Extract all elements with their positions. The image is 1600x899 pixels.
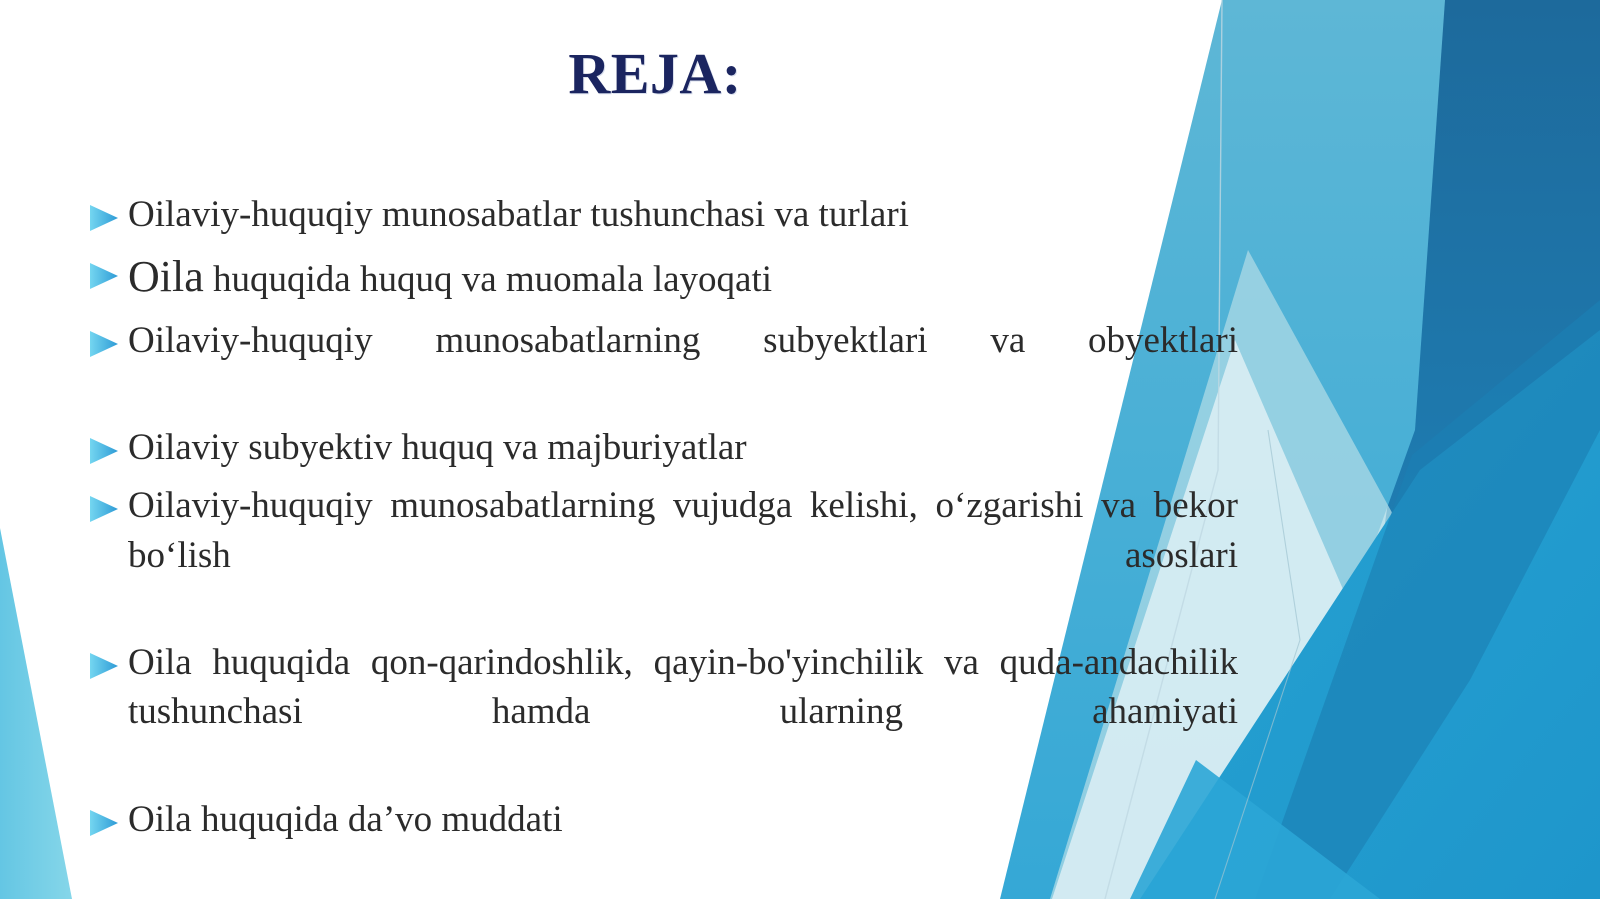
title-container: REJA:: [0, 44, 1310, 105]
deco-accent-band: [1255, 300, 1600, 899]
triangle-right-icon: [88, 248, 128, 291]
triangle-right-icon: [88, 190, 128, 233]
list-item-label: Oilaviy-huquqiy munosabatlarning vujudga…: [128, 481, 1238, 629]
deco-right-deep: [1330, 0, 1600, 899]
triangle-right-icon: [88, 481, 128, 524]
list-item: Oilaviy subyektiv huquq va majburiyatlar: [88, 423, 1238, 472]
list-item-rest: huquqida huquq va muomala layoqati: [213, 259, 772, 300]
triangle-right-icon: [88, 423, 128, 466]
list-item-lead: Oila: [128, 252, 204, 301]
list-item: Oilaviy-huquqiy munosabatlarning subyekt…: [88, 316, 1238, 414]
triangle-right-icon: [88, 795, 128, 838]
list-item-label: Oila huquqida qon-qarindoshlik, qayin-bo…: [128, 638, 1238, 786]
list-item-label: Oilaviy-huquqiy munosabatlarning subyekt…: [128, 316, 1238, 414]
triangle-right-icon: [88, 638, 128, 681]
list-item: Oilaviy-huquqiy munosabatlar tushunchasi…: [88, 190, 1238, 239]
triangle-right-icon: [88, 316, 128, 359]
list-item-label: Oila huquqida huquq va muomala layoqati: [128, 248, 1238, 307]
presentation-slide: REJA: Oilaviy-huquqiy munosabatlar tushu…: [0, 0, 1600, 899]
list-item-label: Oilaviy subyektiv huquq va majburiyatlar: [128, 423, 1238, 472]
list-item: Oila huquqida qon-qarindoshlik, qayin-bo…: [88, 638, 1238, 786]
page-title: REJA:: [568, 44, 741, 105]
list-item-label: Oilaviy-huquqiy munosabatlar tushunchasi…: [128, 190, 1238, 239]
list-item: Oila huquqida huquq va muomala layoqati: [88, 248, 1238, 307]
deco-left-wedge: [0, 528, 72, 899]
agenda-list: Oilaviy-huquqiy munosabatlar tushunchasi…: [88, 190, 1238, 853]
list-item: Oilaviy-huquqiy munosabatlarning vujudga…: [88, 481, 1238, 629]
list-item: Oila huquqida da’vo muddati: [88, 795, 1238, 844]
list-item-label: Oila huquqida da’vo muddati: [128, 795, 1238, 844]
